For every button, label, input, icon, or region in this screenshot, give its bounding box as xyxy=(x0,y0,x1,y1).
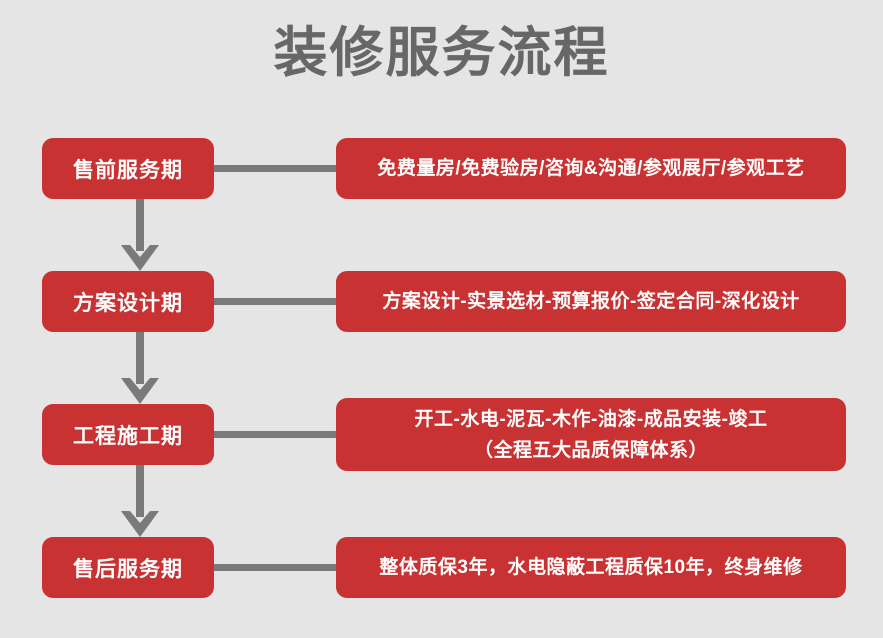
arrowhead-icon-2 xyxy=(121,378,159,404)
horizontal-connector-2 xyxy=(214,298,336,305)
arrowhead-icon-3 xyxy=(121,511,159,537)
description-box-2[interactable]: 方案设计-实景选材-预算报价-签定合同-深化设计 xyxy=(336,271,846,332)
down-arrow-icon-1 xyxy=(121,199,159,271)
down-arrow-icon-3 xyxy=(121,465,159,537)
description-line-3a: 开工-水电-泥瓦-木作-油漆-成品安装-竣工 xyxy=(415,404,768,435)
description-line-3b: （全程五大品质保障体系） xyxy=(474,435,708,466)
horizontal-connector-1 xyxy=(214,165,336,172)
down-arrow-icon-2 xyxy=(121,332,159,404)
arrowhead-icon-1 xyxy=(121,245,159,271)
description-box-1[interactable]: 免费量房/免费验房/咨询&沟通/参观展厅/参观工艺 xyxy=(336,138,846,199)
description-line-2a: 方案设计-实景选材-预算报价-签定合同-深化设计 xyxy=(382,288,799,316)
description-box-4[interactable]: 整体质保3年，水电隐蔽工程质保10年，终身维修 xyxy=(336,537,846,598)
stage-box-2[interactable]: 方案设计期 xyxy=(42,271,214,332)
stage-label-1: 售前服务期 xyxy=(73,154,183,184)
description-line-1a: 免费量房/免费验房/咨询&沟通/参观展厅/参观工艺 xyxy=(377,155,804,183)
stage-box-3[interactable]: 工程施工期 xyxy=(42,404,214,465)
stage-box-4[interactable]: 售后服务期 xyxy=(42,537,214,598)
stage-label-4: 售后服务期 xyxy=(73,553,183,583)
stage-label-3: 工程施工期 xyxy=(73,420,183,450)
horizontal-connector-3 xyxy=(214,431,336,438)
horizontal-connector-4 xyxy=(214,564,336,571)
description-line-4a: 整体质保3年，水电隐蔽工程质保10年，终身维修 xyxy=(379,554,802,582)
flowchart-canvas: 装修服务流程 售前服务期 免费量房/免费验房/咨询&沟通/参观展厅/参观工艺 方… xyxy=(0,0,883,638)
description-box-3[interactable]: 开工-水电-泥瓦-木作-油漆-成品安装-竣工 （全程五大品质保障体系） xyxy=(336,398,846,471)
page-title: 装修服务流程 xyxy=(0,22,883,84)
stage-label-2: 方案设计期 xyxy=(73,287,183,317)
stage-box-1[interactable]: 售前服务期 xyxy=(42,138,214,199)
